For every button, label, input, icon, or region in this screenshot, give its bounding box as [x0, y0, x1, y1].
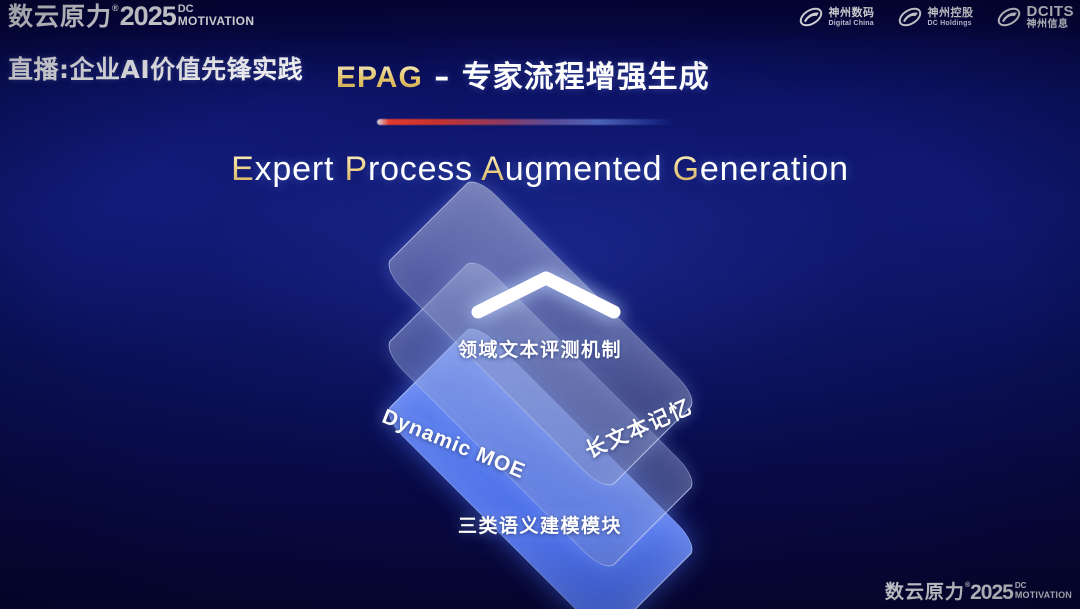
brand-year: 2025	[970, 582, 1013, 603]
brand-dc-motivation: DC MOTIVATION	[1015, 582, 1072, 600]
brand-name-cn: 数云原力	[885, 582, 965, 602]
diagram-top-layer-label: 领域文本评测机制	[0, 335, 1080, 362]
chevron-up-icon	[470, 268, 622, 320]
brand-dc-line2: MOTIVATION	[1015, 590, 1072, 600]
diagram-bottom-layer-label: 三类语义建模模块	[0, 511, 1080, 538]
isometric-layer-diagram: 领域文本评测机制 Dynamic MOE 长文本记忆 三类语义建模模块	[0, 0, 1080, 609]
brand-logo-watermark: 数云原力 ® 2025 DC MOTIVATION	[885, 582, 1072, 603]
slide-canvas: 数云原力 ® 2025 DC MOTIVATION 直播:企业AI价值先锋实践 …	[0, 0, 1080, 609]
brand-dc-line1: DC	[1015, 582, 1072, 590]
